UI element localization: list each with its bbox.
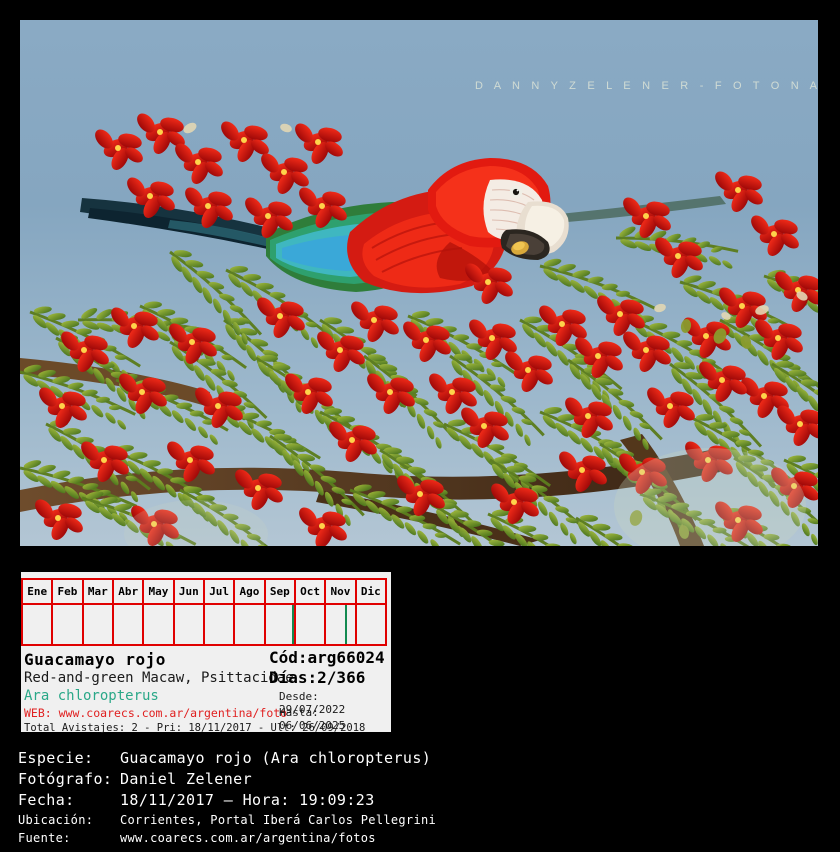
caption-value: 18/11/2017 — Hora: 19:09:23 — [120, 790, 828, 811]
month-cell-dic[interactable] — [357, 605, 385, 644]
caption-label: Fuente: — [18, 829, 120, 847]
month-header-cell: May — [144, 580, 174, 603]
month-cell-abr[interactable] — [114, 605, 144, 644]
common-name: Guacamayo rojo — [24, 650, 166, 669]
bird-photograph: D A N N Y Z E L E N E R - F O T O N A T … — [20, 20, 818, 546]
month-cell-may[interactable] — [144, 605, 174, 644]
month-cell-ene[interactable] — [23, 605, 53, 644]
caption-value[interactable]: www.coarecs.com.ar/argentina/fotos — [120, 829, 828, 847]
sighting-calendar[interactable]: Ene Feb Mar Abr May Jun Jul Ago Sep Oct … — [21, 578, 387, 646]
web-link[interactable]: WEB: www.coarecs.com.ar/argentina/foto — [24, 706, 287, 720]
month-header-cell: Ago — [235, 580, 265, 603]
caption-row-fecha: Fecha: 18/11/2017 — Hora: 19:09:23 — [18, 790, 828, 811]
month-cell-jun[interactable] — [175, 605, 205, 644]
caption-row-ubicacion: Ubicación: Corrientes, Portal Iberá Carl… — [18, 811, 828, 829]
calendar-month-header: Ene Feb Mar Abr May Jun Jul Ago Sep Oct … — [23, 580, 385, 605]
english-family: Red-and-green Macaw, Psittacidae — [24, 670, 294, 686]
caption-label: Fecha: — [18, 790, 120, 811]
record-code: Cód:arg66024 — [269, 648, 385, 667]
month-header-cell: Ene — [23, 580, 53, 603]
caption-row-fuente: Fuente: www.coarecs.com.ar/argentina/fot… — [18, 829, 828, 847]
screenshot-root: D A N N Y Z E L E N E R - F O T O N A T … — [0, 0, 840, 852]
calendar-month-cells — [23, 605, 385, 644]
scientific-name: Ara chloropterus — [24, 688, 159, 704]
month-cell-oct[interactable] — [296, 605, 326, 644]
month-header-cell: Abr — [114, 580, 144, 603]
species-info-panel: Ene Feb Mar Abr May Jun Jul Ago Sep Oct … — [21, 572, 391, 732]
photo-caption: Especie: Guacamayo rojo (Ara chloropteru… — [18, 748, 828, 847]
month-header-cell: Feb — [53, 580, 83, 603]
caption-label: Ubicación: — [18, 811, 120, 829]
month-cell-nov[interactable] — [326, 605, 356, 644]
month-header-cell: Nov — [326, 580, 356, 603]
caption-value: Corrientes, Portal Iberá Carlos Pellegri… — [120, 811, 828, 829]
days-counter: Días:2/366 — [269, 668, 365, 687]
caption-row-especie: Especie: Guacamayo rojo (Ara chloropteru… — [18, 748, 828, 769]
month-cell-jul[interactable] — [205, 605, 235, 644]
photo-artwork — [20, 20, 818, 546]
caption-row-fotografo: Fotógrafo: Daniel Zelener — [18, 769, 828, 790]
month-header-cell: Jul — [205, 580, 235, 603]
month-header-cell: Dic — [357, 580, 385, 603]
sighting-mark — [292, 605, 294, 644]
caption-label: Especie: — [18, 748, 120, 769]
sighting-mark — [345, 605, 347, 644]
caption-value: Guacamayo rojo (Ara chloropterus) — [120, 748, 828, 769]
month-header-cell: Jun — [175, 580, 205, 603]
month-header-cell: Oct — [296, 580, 326, 603]
month-cell-ago[interactable] — [235, 605, 265, 644]
caption-label: Fotógrafo: — [18, 769, 120, 790]
date-to: Hasta: 06/06/2025 — [279, 706, 391, 732]
month-cell-sep[interactable] — [266, 605, 296, 644]
photographer-watermark: D A N N Y Z E L E N E R - F O T O N A T … — [475, 80, 818, 92]
month-header-cell: Sep — [266, 580, 296, 603]
caption-value: Daniel Zelener — [120, 769, 828, 790]
month-cell-feb[interactable] — [53, 605, 83, 644]
month-header-cell: Mar — [84, 580, 114, 603]
month-cell-mar[interactable] — [84, 605, 114, 644]
